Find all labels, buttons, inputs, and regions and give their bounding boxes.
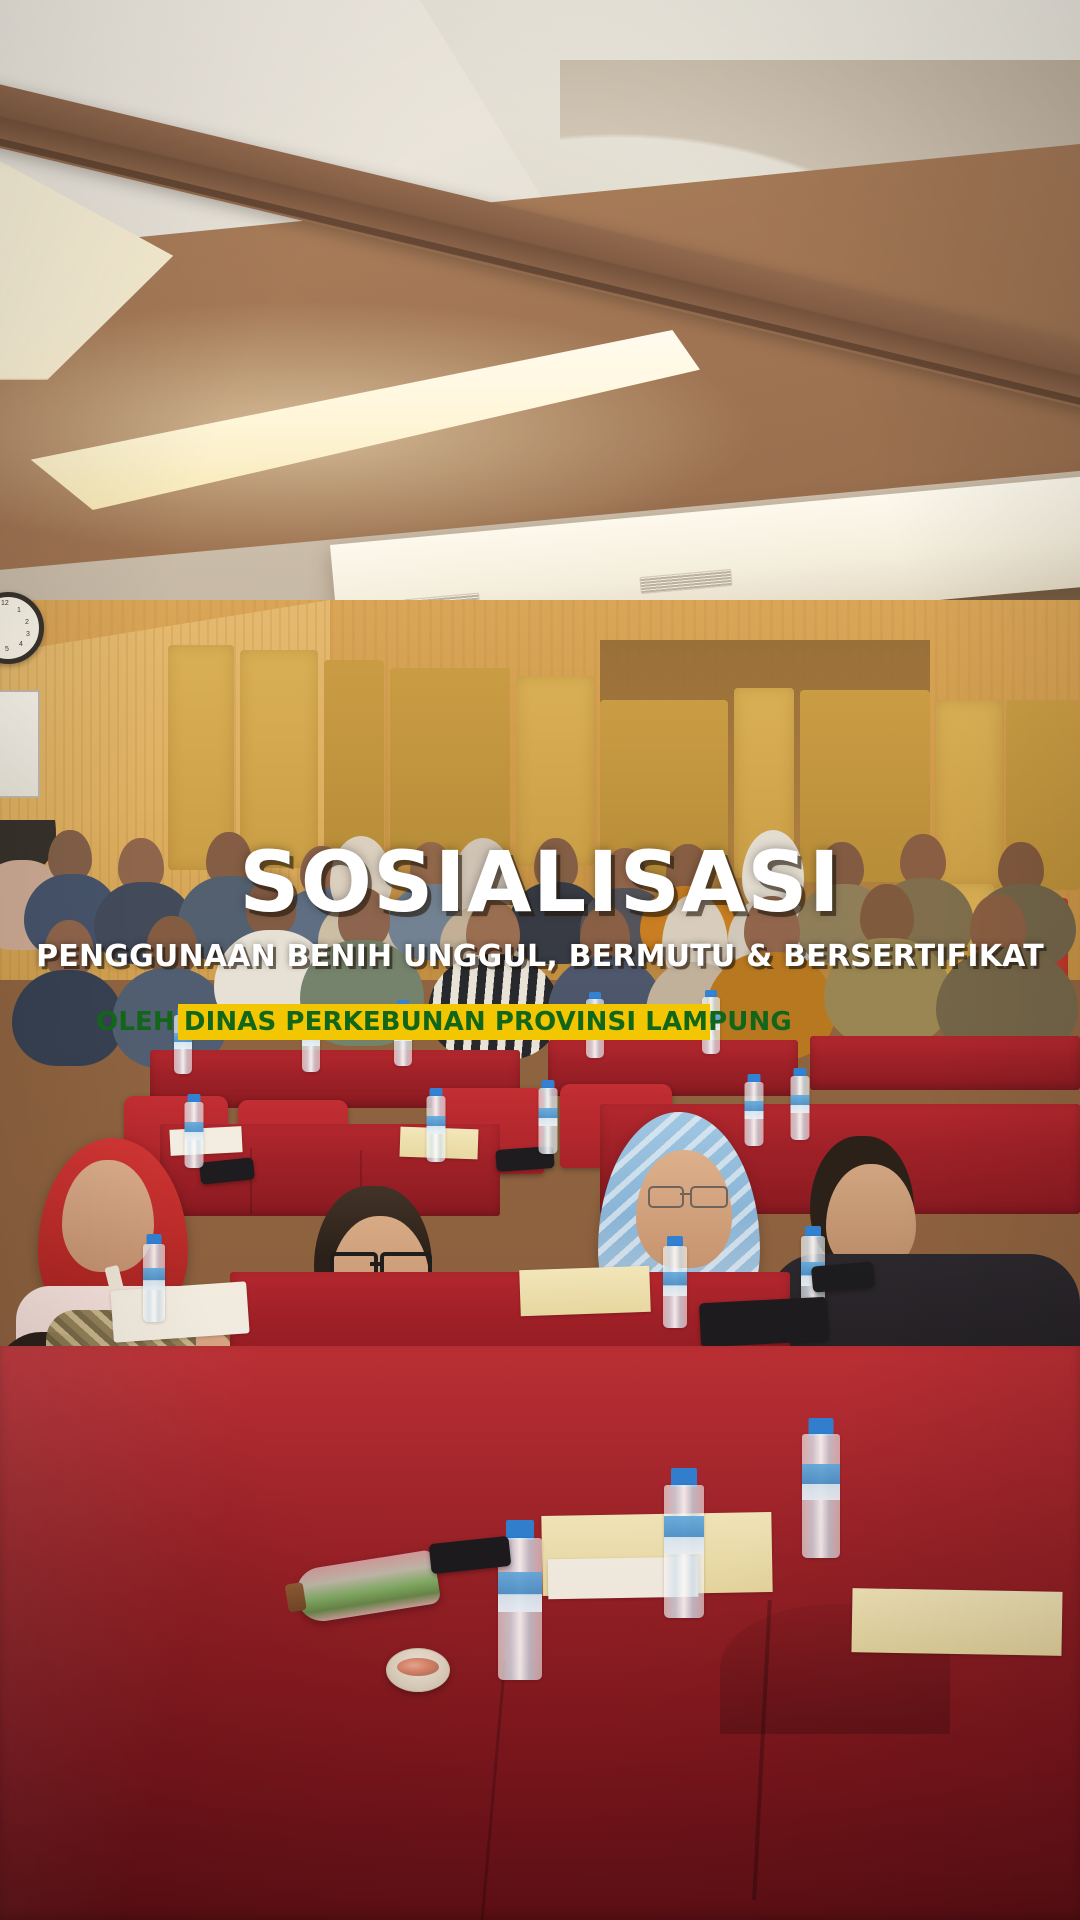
water-bottle: [660, 1468, 708, 1618]
eyeglasses-icon: [648, 1186, 724, 1206]
water-bottle: [742, 1074, 766, 1146]
projector-screen: [0, 690, 40, 798]
ashtray-contents: [397, 1658, 439, 1676]
attendee-body: [428, 954, 560, 1060]
attendee-body: [824, 938, 952, 1046]
water-bottle: [182, 1094, 206, 1168]
water-bottle: [300, 1004, 322, 1072]
attendee-body: [12, 970, 124, 1066]
water-bottle: [424, 1088, 448, 1162]
smartphone: [811, 1261, 875, 1292]
conference-table: [810, 1036, 1080, 1090]
plate: [110, 1281, 249, 1342]
water-bottle: [798, 1418, 844, 1558]
water-bottle: [584, 992, 606, 1058]
attendee-head: [744, 896, 800, 960]
document-folder: [519, 1266, 651, 1317]
attendee-head: [246, 878, 296, 936]
water-bottle: [172, 1008, 194, 1074]
bottle-cap: [285, 1582, 307, 1612]
smartphone: [699, 1297, 829, 1348]
water-bottle: [140, 1234, 168, 1322]
attendee-head: [860, 884, 914, 946]
attendee-head: [466, 900, 520, 962]
document-paper: [169, 1126, 242, 1156]
water-bottle: [392, 1000, 414, 1066]
attendee-head: [338, 888, 390, 948]
water-bottle: [788, 1068, 812, 1140]
water-bottle: [660, 1236, 690, 1328]
water-bottle: [536, 1080, 560, 1154]
attendee-head: [146, 916, 198, 976]
screenshot-frame: 12 1 2 3 4 5: [0, 0, 1080, 1920]
ashtray: [386, 1648, 450, 1692]
document-folder: [851, 1588, 1062, 1656]
water-bottle: [700, 990, 722, 1054]
